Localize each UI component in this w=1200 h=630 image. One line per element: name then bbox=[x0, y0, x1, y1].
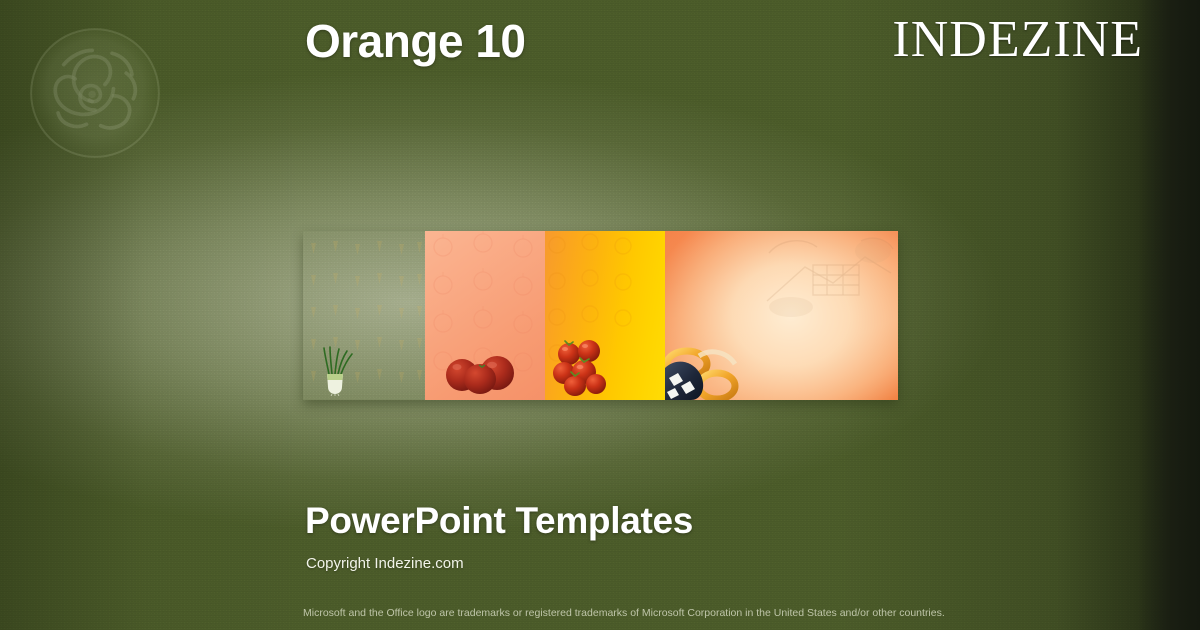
footer-title: PowerPoint Templates bbox=[305, 500, 693, 542]
copyright-text: Copyright Indezine.com bbox=[306, 555, 464, 572]
thumbnail-panel-cream-onions[interactable] bbox=[303, 231, 425, 400]
spring-onion-image bbox=[316, 344, 360, 396]
thumbnail-panel-salmon-tomatoes[interactable] bbox=[425, 231, 545, 400]
trademark-notice: Microsoft and the Office logo are tradem… bbox=[303, 607, 945, 619]
thumbnail-panel-yellow-tomatoes[interactable] bbox=[545, 231, 665, 400]
tomato-cluster-image bbox=[551, 334, 613, 396]
indezine-logo: INDEZINE bbox=[892, 14, 1143, 66]
tomatoes-image bbox=[445, 346, 519, 394]
thumbnail-panel-orange-slide[interactable] bbox=[665, 231, 898, 400]
template-thumbnail-strip[interactable] bbox=[303, 231, 898, 400]
template-preview-slide: Orange 10 INDEZINE indezine.com/powerpoi… bbox=[0, 0, 1200, 630]
url-band bbox=[1138, 0, 1200, 630]
page-title: Orange 10 bbox=[305, 14, 526, 68]
kitchen-object-image bbox=[665, 334, 757, 400]
celtic-spiral-icon bbox=[24, 22, 166, 164]
faded-photo-overlay bbox=[761, 231, 896, 327]
